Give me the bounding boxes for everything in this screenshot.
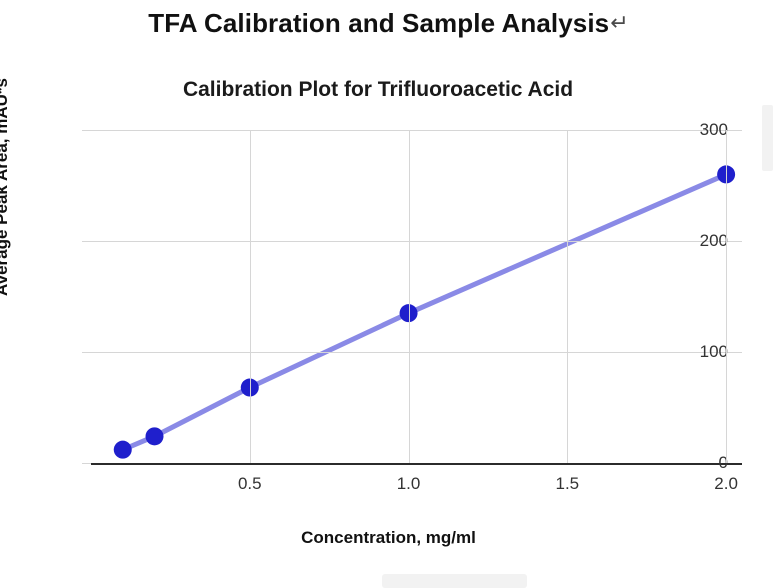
calibration-chart: Calibration Plot for Trifluoroacetic Aci… bbox=[0, 60, 777, 560]
data-point-marker bbox=[114, 441, 132, 459]
plot-area: 01002003000.51.01.52.0 bbox=[91, 130, 742, 463]
page-edge-artifact-bottom bbox=[382, 574, 527, 588]
y-tick-label: 200 bbox=[700, 231, 728, 251]
document-title-text: TFA Calibration and Sample Analysis bbox=[148, 8, 609, 38]
chart-title: Calibration Plot for Trifluoroacetic Aci… bbox=[8, 78, 748, 102]
y-tick-mark bbox=[82, 352, 91, 353]
paragraph-mark-icon: ↵ bbox=[610, 10, 629, 35]
data-point-marker bbox=[146, 427, 164, 445]
gridline-vertical bbox=[409, 130, 410, 463]
x-axis-line bbox=[91, 463, 742, 465]
y-tick-mark bbox=[82, 463, 91, 464]
gridline-horizontal bbox=[91, 352, 742, 353]
page-edge-artifact-right bbox=[762, 105, 773, 171]
x-tick-label: 2.0 bbox=[714, 474, 738, 494]
data-series bbox=[91, 130, 742, 463]
x-axis-title: Concentration, mg/ml bbox=[0, 528, 777, 548]
x-tick-label: 0.5 bbox=[238, 474, 262, 494]
y-tick-mark bbox=[82, 130, 91, 131]
x-tick-label: 1.5 bbox=[556, 474, 580, 494]
gridline-horizontal bbox=[91, 241, 742, 242]
y-tick-label: 100 bbox=[700, 342, 728, 362]
gridline-vertical bbox=[250, 130, 251, 463]
gridline-vertical bbox=[567, 130, 568, 463]
y-tick-label: 300 bbox=[700, 120, 728, 140]
x-tick-label: 1.0 bbox=[397, 474, 421, 494]
document-title: TFA Calibration and Sample Analysis↵ bbox=[0, 8, 777, 39]
y-axis-title: Average Peak Area, mAU*s bbox=[0, 78, 12, 296]
series-line bbox=[123, 174, 726, 449]
y-tick-mark bbox=[82, 241, 91, 242]
gridline-horizontal bbox=[91, 130, 742, 131]
gridline-vertical bbox=[726, 130, 727, 463]
